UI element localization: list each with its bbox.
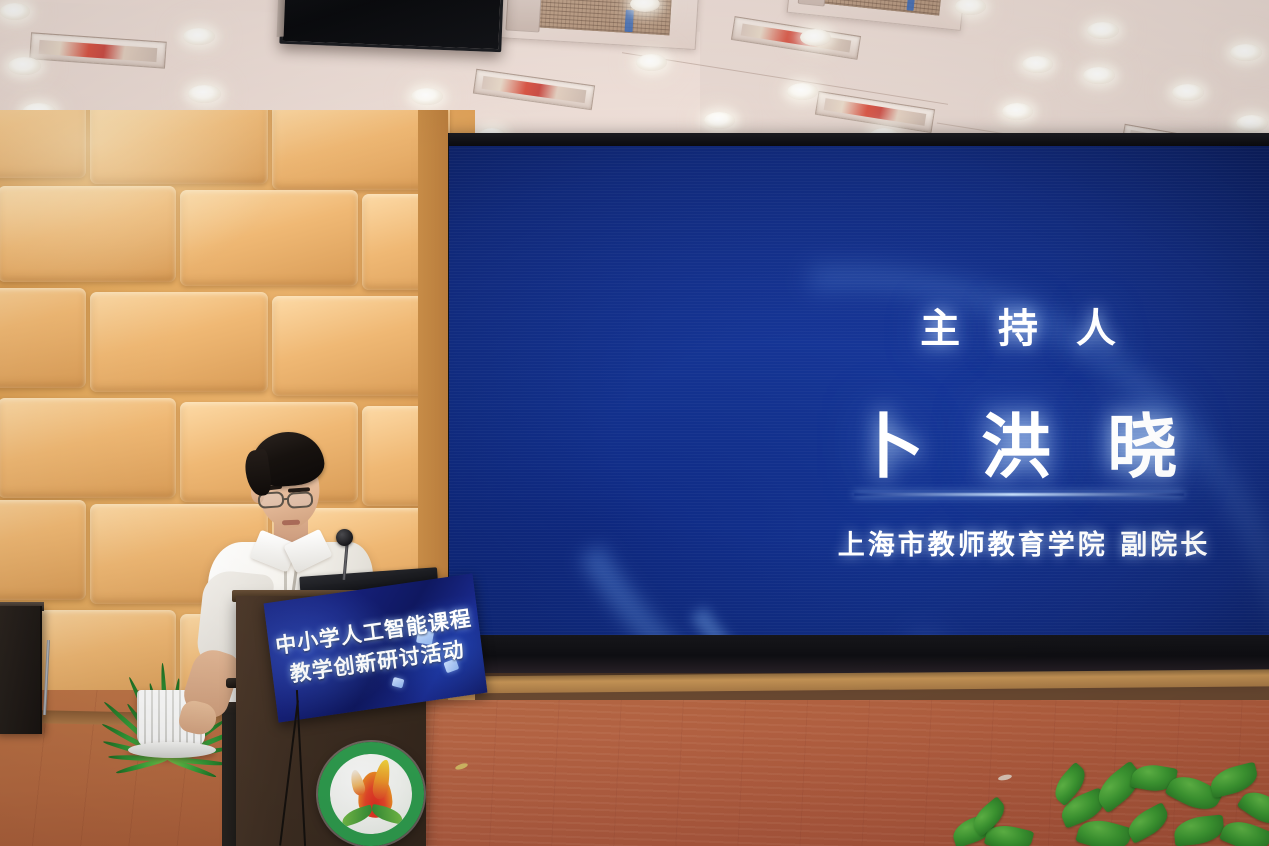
ac-vent-icon [787, 0, 969, 31]
ceiling-tv-monitor [279, 0, 504, 52]
downlight-icon [8, 57, 41, 75]
slide-speaker-name: 卜 洪 晓 [449, 391, 1269, 492]
wall-panel [90, 292, 268, 392]
downlight-icon [1230, 44, 1262, 61]
downlight-icon [0, 3, 30, 20]
wall-panel [0, 500, 86, 600]
downlight-icon [1022, 56, 1053, 73]
slide-divider-line [854, 493, 1184, 496]
downlight-icon [800, 29, 831, 46]
photo-scene: 主 持 人 卜 洪 晓 上海市教师教育学院 副院长 [0, 0, 1269, 846]
ac-blade [505, 0, 542, 32]
downlight-icon [411, 88, 443, 105]
downlight-icon [1083, 67, 1115, 84]
plant-leaf [1123, 802, 1173, 844]
tv-mount-bracket [277, 0, 287, 37]
wall-panel [0, 110, 86, 178]
downlight-icon [636, 54, 667, 71]
downlight-icon [1002, 103, 1033, 120]
downlight-icon [1172, 84, 1204, 101]
led-wall-display: 主 持 人 卜 洪 晓 上海市教师教育学院 副院长 [438, 133, 1269, 673]
plant-leaf [1173, 814, 1226, 846]
screen-bezel-bottom [438, 635, 1269, 673]
presenter-mouth [282, 520, 300, 526]
downlight-icon [1087, 22, 1119, 39]
wall-panel [0, 398, 176, 498]
led-screen-surface: 主 持 人 卜 洪 晓 上海市教师教育学院 副院长 [449, 146, 1269, 635]
downlight-icon [1236, 115, 1268, 132]
screen-bezel-top [438, 133, 1269, 146]
downlight-icon [704, 112, 735, 129]
wall-panel [90, 110, 268, 184]
foliage-plant-right-small [952, 812, 1042, 846]
microphone-icon [336, 529, 353, 546]
wall-panel [180, 190, 358, 286]
foliage-plant-right [1050, 755, 1269, 846]
ac-indicator [624, 10, 633, 32]
downlight-icon [183, 28, 215, 45]
glasses-icon [286, 491, 313, 509]
stage-baseboard [438, 669, 1269, 693]
slide-role-label: 主 持 人 [449, 296, 1269, 354]
recessed-light-fixture [731, 16, 861, 60]
downlight-icon [188, 85, 221, 103]
slide-affiliation: 上海市教师教育学院 副院长 [449, 523, 1269, 562]
downlight-icon [955, 0, 986, 15]
ac-grille [811, 0, 943, 16]
floor-loudspeaker [0, 606, 42, 734]
recessed-light-fixture [815, 91, 935, 133]
wall-panel [0, 186, 176, 282]
downlight-icon [787, 83, 818, 100]
wall-panel [0, 288, 86, 388]
emblem-leaf [370, 804, 404, 825]
glasses-bridge [283, 498, 289, 500]
